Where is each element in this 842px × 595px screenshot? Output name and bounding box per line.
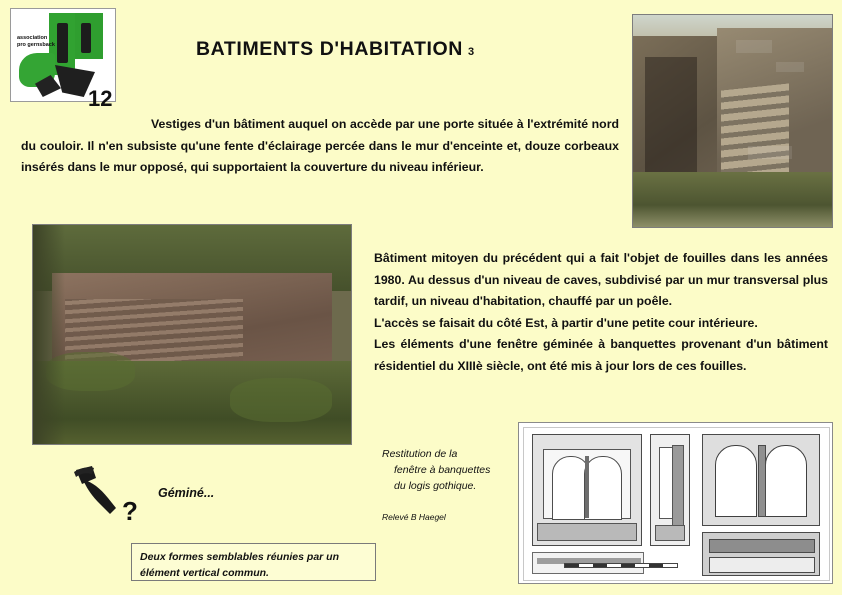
paragraph-right-3: Les éléments d'une fenêtre géminée à ban… xyxy=(374,334,828,377)
photo-shadow xyxy=(645,57,697,184)
restitution-caption-line2: fenêtre à banquettes xyxy=(382,462,512,478)
drawing-bench-sill xyxy=(537,523,637,541)
drawing-credit: Relevé B Haegel xyxy=(382,512,446,522)
logo-text-line2: pro gernsback xyxy=(17,42,57,49)
paragraph-right-1: Bâtiment mitoyen du précédent qui a fait… xyxy=(374,248,828,313)
photo-stone-block xyxy=(748,146,792,159)
drawing-bench-detail xyxy=(702,532,820,576)
photo-stone-block xyxy=(736,40,772,53)
photo-vegetation xyxy=(633,172,832,227)
drawing-arch-left xyxy=(715,445,757,517)
drawing-mullion xyxy=(758,445,766,517)
paragraph-top: Vestiges d'un bâtiment auquel on accède … xyxy=(21,114,619,179)
drawing-bench-front xyxy=(709,557,815,573)
drawing-section-wall xyxy=(672,445,684,527)
drawing-arch-pair xyxy=(543,449,631,519)
drawing-arch-right xyxy=(765,445,807,517)
drawing-bench-top xyxy=(709,539,815,553)
restitution-caption-line1: Restitution de la xyxy=(382,446,512,462)
document-page: association pro gernsback 12 BATIMENTS D… xyxy=(0,0,842,595)
ruined-wall-with-stone-steps-photo xyxy=(632,14,833,228)
drawing-window-elevation-left xyxy=(532,434,642,546)
logo-shape-dark-pillar-left xyxy=(57,23,68,63)
drawing-window-section xyxy=(650,434,690,546)
gemine-term-label: Géminé... xyxy=(158,486,214,500)
drawing-window-elevation-right xyxy=(702,434,820,526)
restitution-caption-line3: du logis gothique. xyxy=(382,478,512,494)
drawing-arch-right xyxy=(584,456,622,520)
overgrown-brick-ruin-photo xyxy=(32,224,352,445)
photo-stone-block xyxy=(776,62,804,73)
gothic-twin-window-elevation-drawings xyxy=(518,422,833,584)
logo-shape-dark-pillar-right xyxy=(81,23,91,53)
paragraph-right: Bâtiment mitoyen du précédent qui a fait… xyxy=(374,248,828,377)
drawing-scale-bar-graphic xyxy=(564,563,678,568)
drawing-mullion xyxy=(585,456,589,518)
logo-text-line1: association xyxy=(17,35,57,42)
question-mark: ? xyxy=(122,496,138,527)
page-title-text: BATIMENTS D'HABITATION xyxy=(196,38,463,60)
drawing-section-base xyxy=(655,525,685,541)
restitution-caption: Restitution de la fenêtre à banquettes d… xyxy=(382,446,512,494)
drawing-plate-frame xyxy=(523,427,830,581)
photo-left-edge-shadow xyxy=(33,225,65,444)
drawing-scale-bar xyxy=(564,560,676,568)
paragraph-right-2: L'accès se faisait du côté Est, à partir… xyxy=(374,313,828,335)
page-title: BATIMENTS D'HABITATION3 xyxy=(196,38,475,61)
page-number: 12 xyxy=(88,86,112,112)
photo-moss-patch xyxy=(230,378,332,422)
logo-text: association pro gernsback xyxy=(17,35,57,49)
drawing-section-opening xyxy=(659,447,673,519)
page-title-superscript: 3 xyxy=(463,46,475,58)
photo-stone-steps xyxy=(721,84,789,184)
paragraph-top-text: Vestiges d'un bâtiment auquel on accède … xyxy=(21,117,619,174)
gemine-definition-box: Deux formes semblables réunies par un él… xyxy=(131,543,376,581)
